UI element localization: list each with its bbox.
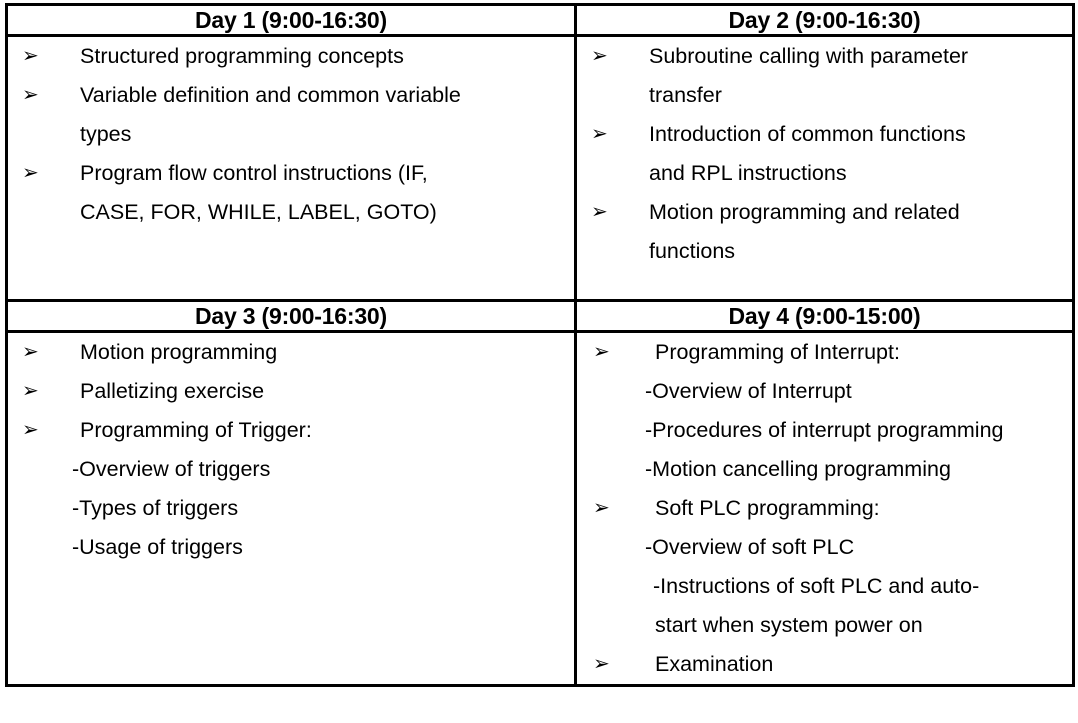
arrow-bullet-icon: ➢ — [593, 489, 615, 528]
day-3-list: ➢ Motion programming ➢ Palletizing exerc… — [8, 333, 574, 450]
item-line: Program flow control instructions (IF, — [80, 154, 574, 193]
item-line: Examination — [655, 645, 1072, 684]
item-line-continued: transfer — [649, 76, 1072, 115]
item-line-continued: types — [80, 115, 574, 154]
sub-line: -Procedures of interrupt programming — [577, 411, 1072, 450]
item-line: Introduction of common functions — [649, 115, 1072, 154]
day-3-content: ➢ Motion programming ➢ Palletizing exerc… — [7, 332, 576, 686]
list-item: ➢ Structured programming concepts — [8, 37, 574, 76]
item-line-continued: CASE, FOR, WHILE, LABEL, GOTO) — [80, 193, 574, 232]
sub-line-continued: start when system power on — [577, 606, 1072, 645]
day-4-content: ➢ Programming of Interrupt: -Overview of… — [576, 332, 1074, 686]
list-item: ➢ Palletizing exercise — [8, 372, 574, 411]
sub-line: -Types of triggers — [8, 489, 574, 528]
sub-line: -Motion cancelling programming — [577, 450, 1072, 489]
item-line: Programming of Interrupt: — [655, 333, 1072, 372]
arrow-bullet-icon: ➢ — [22, 333, 44, 372]
item-line-continued: and RPL instructions — [649, 154, 1072, 193]
list-item: ➢ Program flow control instructions (IF,… — [8, 154, 574, 232]
list-item: ➢ Programming of Interrupt: — [577, 333, 1072, 372]
sub-line: -Overview of Interrupt — [577, 372, 1072, 411]
list-item: ➢ Introduction of common functions and R… — [577, 115, 1072, 193]
day-1-header: Day 1 (9:00-16:30) — [7, 5, 576, 36]
day-3-header: Day 3 (9:00-16:30) — [7, 301, 576, 332]
list-item: ➢ Programming of Trigger: — [8, 411, 574, 450]
day-4-header: Day 4 (9:00-15:00) — [576, 301, 1074, 332]
list-item: ➢ Motion programming and related functio… — [577, 193, 1072, 271]
sub-line: -Usage of triggers — [8, 528, 574, 567]
day-4-list-part-3: ➢ Examination — [577, 645, 1072, 684]
day-2-list: ➢ Subroutine calling with parameter tran… — [577, 37, 1072, 271]
sub-line: -Instructions of soft PLC and auto- — [577, 567, 1072, 606]
schedule-page: Day 1 (9:00-16:30) Day 2 (9:00-16:30) ➢ … — [0, 0, 1078, 723]
item-line-continued: functions — [649, 232, 1072, 271]
arrow-bullet-icon: ➢ — [22, 372, 44, 411]
arrow-bullet-icon: ➢ — [22, 411, 44, 450]
list-item: ➢ Subroutine calling with parameter tran… — [577, 37, 1072, 115]
item-line: Motion programming — [80, 333, 574, 372]
arrow-bullet-icon: ➢ — [593, 645, 615, 684]
list-item: ➢ Soft PLC programming: — [577, 489, 1072, 528]
training-schedule-table: Day 1 (9:00-16:30) Day 2 (9:00-16:30) ➢ … — [5, 3, 1075, 687]
arrow-bullet-icon: ➢ — [591, 37, 613, 76]
content-row-1: ➢ Structured programming concepts ➢ Vari… — [7, 36, 1074, 301]
item-line: Variable definition and common variable — [80, 76, 574, 115]
content-row-2: ➢ Motion programming ➢ Palletizing exerc… — [7, 332, 1074, 686]
item-line: Palletizing exercise — [80, 372, 574, 411]
arrow-bullet-icon: ➢ — [22, 37, 44, 76]
day-2-content: ➢ Subroutine calling with parameter tran… — [576, 36, 1074, 301]
sub-line: -Overview of triggers — [8, 450, 574, 489]
sub-line: -Overview of soft PLC — [577, 528, 1072, 567]
item-line: Soft PLC programming: — [655, 489, 1072, 528]
header-row-1: Day 1 (9:00-16:30) Day 2 (9:00-16:30) — [7, 5, 1074, 36]
arrow-bullet-icon: ➢ — [593, 333, 615, 372]
item-line: Programming of Trigger: — [80, 411, 574, 450]
day-2-header: Day 2 (9:00-16:30) — [576, 5, 1074, 36]
arrow-bullet-icon: ➢ — [591, 115, 613, 154]
item-line: Structured programming concepts — [80, 37, 574, 76]
day-1-content: ➢ Structured programming concepts ➢ Vari… — [7, 36, 576, 301]
day-1-list: ➢ Structured programming concepts ➢ Vari… — [8, 37, 574, 232]
list-item: ➢ Variable definition and common variabl… — [8, 76, 574, 154]
header-row-2: Day 3 (9:00-16:30) Day 4 (9:00-15:00) — [7, 301, 1074, 332]
list-item: ➢ Examination — [577, 645, 1072, 684]
day-4-list-part-2: ➢ Soft PLC programming: — [577, 489, 1072, 528]
item-line: Motion programming and related — [649, 193, 1072, 232]
arrow-bullet-icon: ➢ — [22, 76, 44, 115]
arrow-bullet-icon: ➢ — [22, 154, 44, 193]
arrow-bullet-icon: ➢ — [591, 193, 613, 232]
item-line: Subroutine calling with parameter — [649, 37, 1072, 76]
list-item: ➢ Motion programming — [8, 333, 574, 372]
day-4-list-part-1: ➢ Programming of Interrupt: — [577, 333, 1072, 372]
